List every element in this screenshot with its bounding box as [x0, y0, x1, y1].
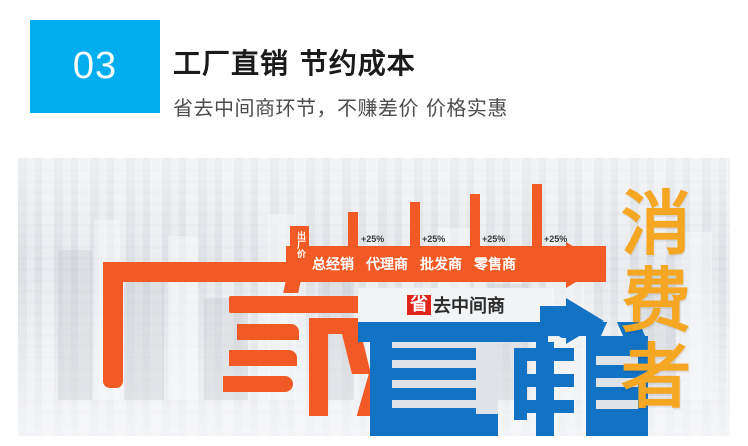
saving-highlight-char: 省 [407, 295, 431, 316]
chain-item-pifashang: 批发商 [420, 254, 462, 274]
consumer-label-group: 消 费 者 [610, 190, 702, 412]
chain-item-lingshoushang: 零售商 [474, 254, 516, 274]
markup-label-4: +25% [544, 234, 567, 244]
section-header: 03 工厂直销 节约成本 省去中间商环节，不赚差价 价格实惠 [0, 0, 748, 150]
growth-bar-4 [532, 184, 542, 248]
glyph-stroke [237, 324, 299, 340]
glyph-negative-space [392, 360, 476, 368]
step-number-label: 03 [73, 45, 117, 88]
traditional-channel-arrow [540, 242, 604, 288]
page-title: 工厂直销 节约成本 [173, 42, 416, 82]
glyph-negative-space [392, 380, 476, 388]
direct-sales-arrow [540, 298, 604, 344]
growth-bar-1 [348, 212, 358, 248]
glyph-chang-vertical-stroke [103, 262, 123, 388]
consumer-char-3: 者 [621, 343, 691, 412]
factory-price-label: 出厂价 [295, 231, 304, 258]
saving-banner-text: 去中间商 [433, 292, 505, 318]
markup-label-1: +25% [361, 234, 384, 244]
page-subtitle: 省去中间商环节，不赚差价 价格实惠 [173, 92, 508, 121]
glyph-stroke [229, 350, 297, 366]
growth-bar-3 [470, 194, 480, 248]
consumer-char-1: 消 [621, 190, 691, 259]
growth-bar-2 [410, 202, 420, 248]
glyph-stroke [229, 296, 379, 313]
arrow-right-icon [540, 242, 604, 288]
skyline-decor [58, 250, 92, 400]
glyph-negative-space [392, 400, 476, 408]
glyph-stroke [536, 342, 554, 436]
chain-item-dailishang: 代理商 [366, 254, 408, 274]
consumer-char-2: 费 [621, 267, 691, 336]
saving-banner: 省 去中间商 [358, 288, 554, 322]
glyph-stroke [370, 414, 498, 436]
markup-label-2: +25% [422, 234, 445, 244]
glyph-stroke [223, 376, 293, 392]
arrow-right-icon [540, 298, 604, 344]
factory-price-tab: 出厂价 [290, 226, 309, 262]
glyph-stroke [309, 318, 328, 416]
infographic-panel: +25% +25% +25% +25% 出厂价 总经销 代理商 批发商 零售商 … [18, 158, 730, 436]
direct-sales-rail [358, 322, 548, 342]
markup-label-3: +25% [482, 234, 505, 244]
step-number-badge: 03 [30, 20, 160, 113]
chain-item-zongjingxiao: 总经销 [312, 254, 354, 274]
